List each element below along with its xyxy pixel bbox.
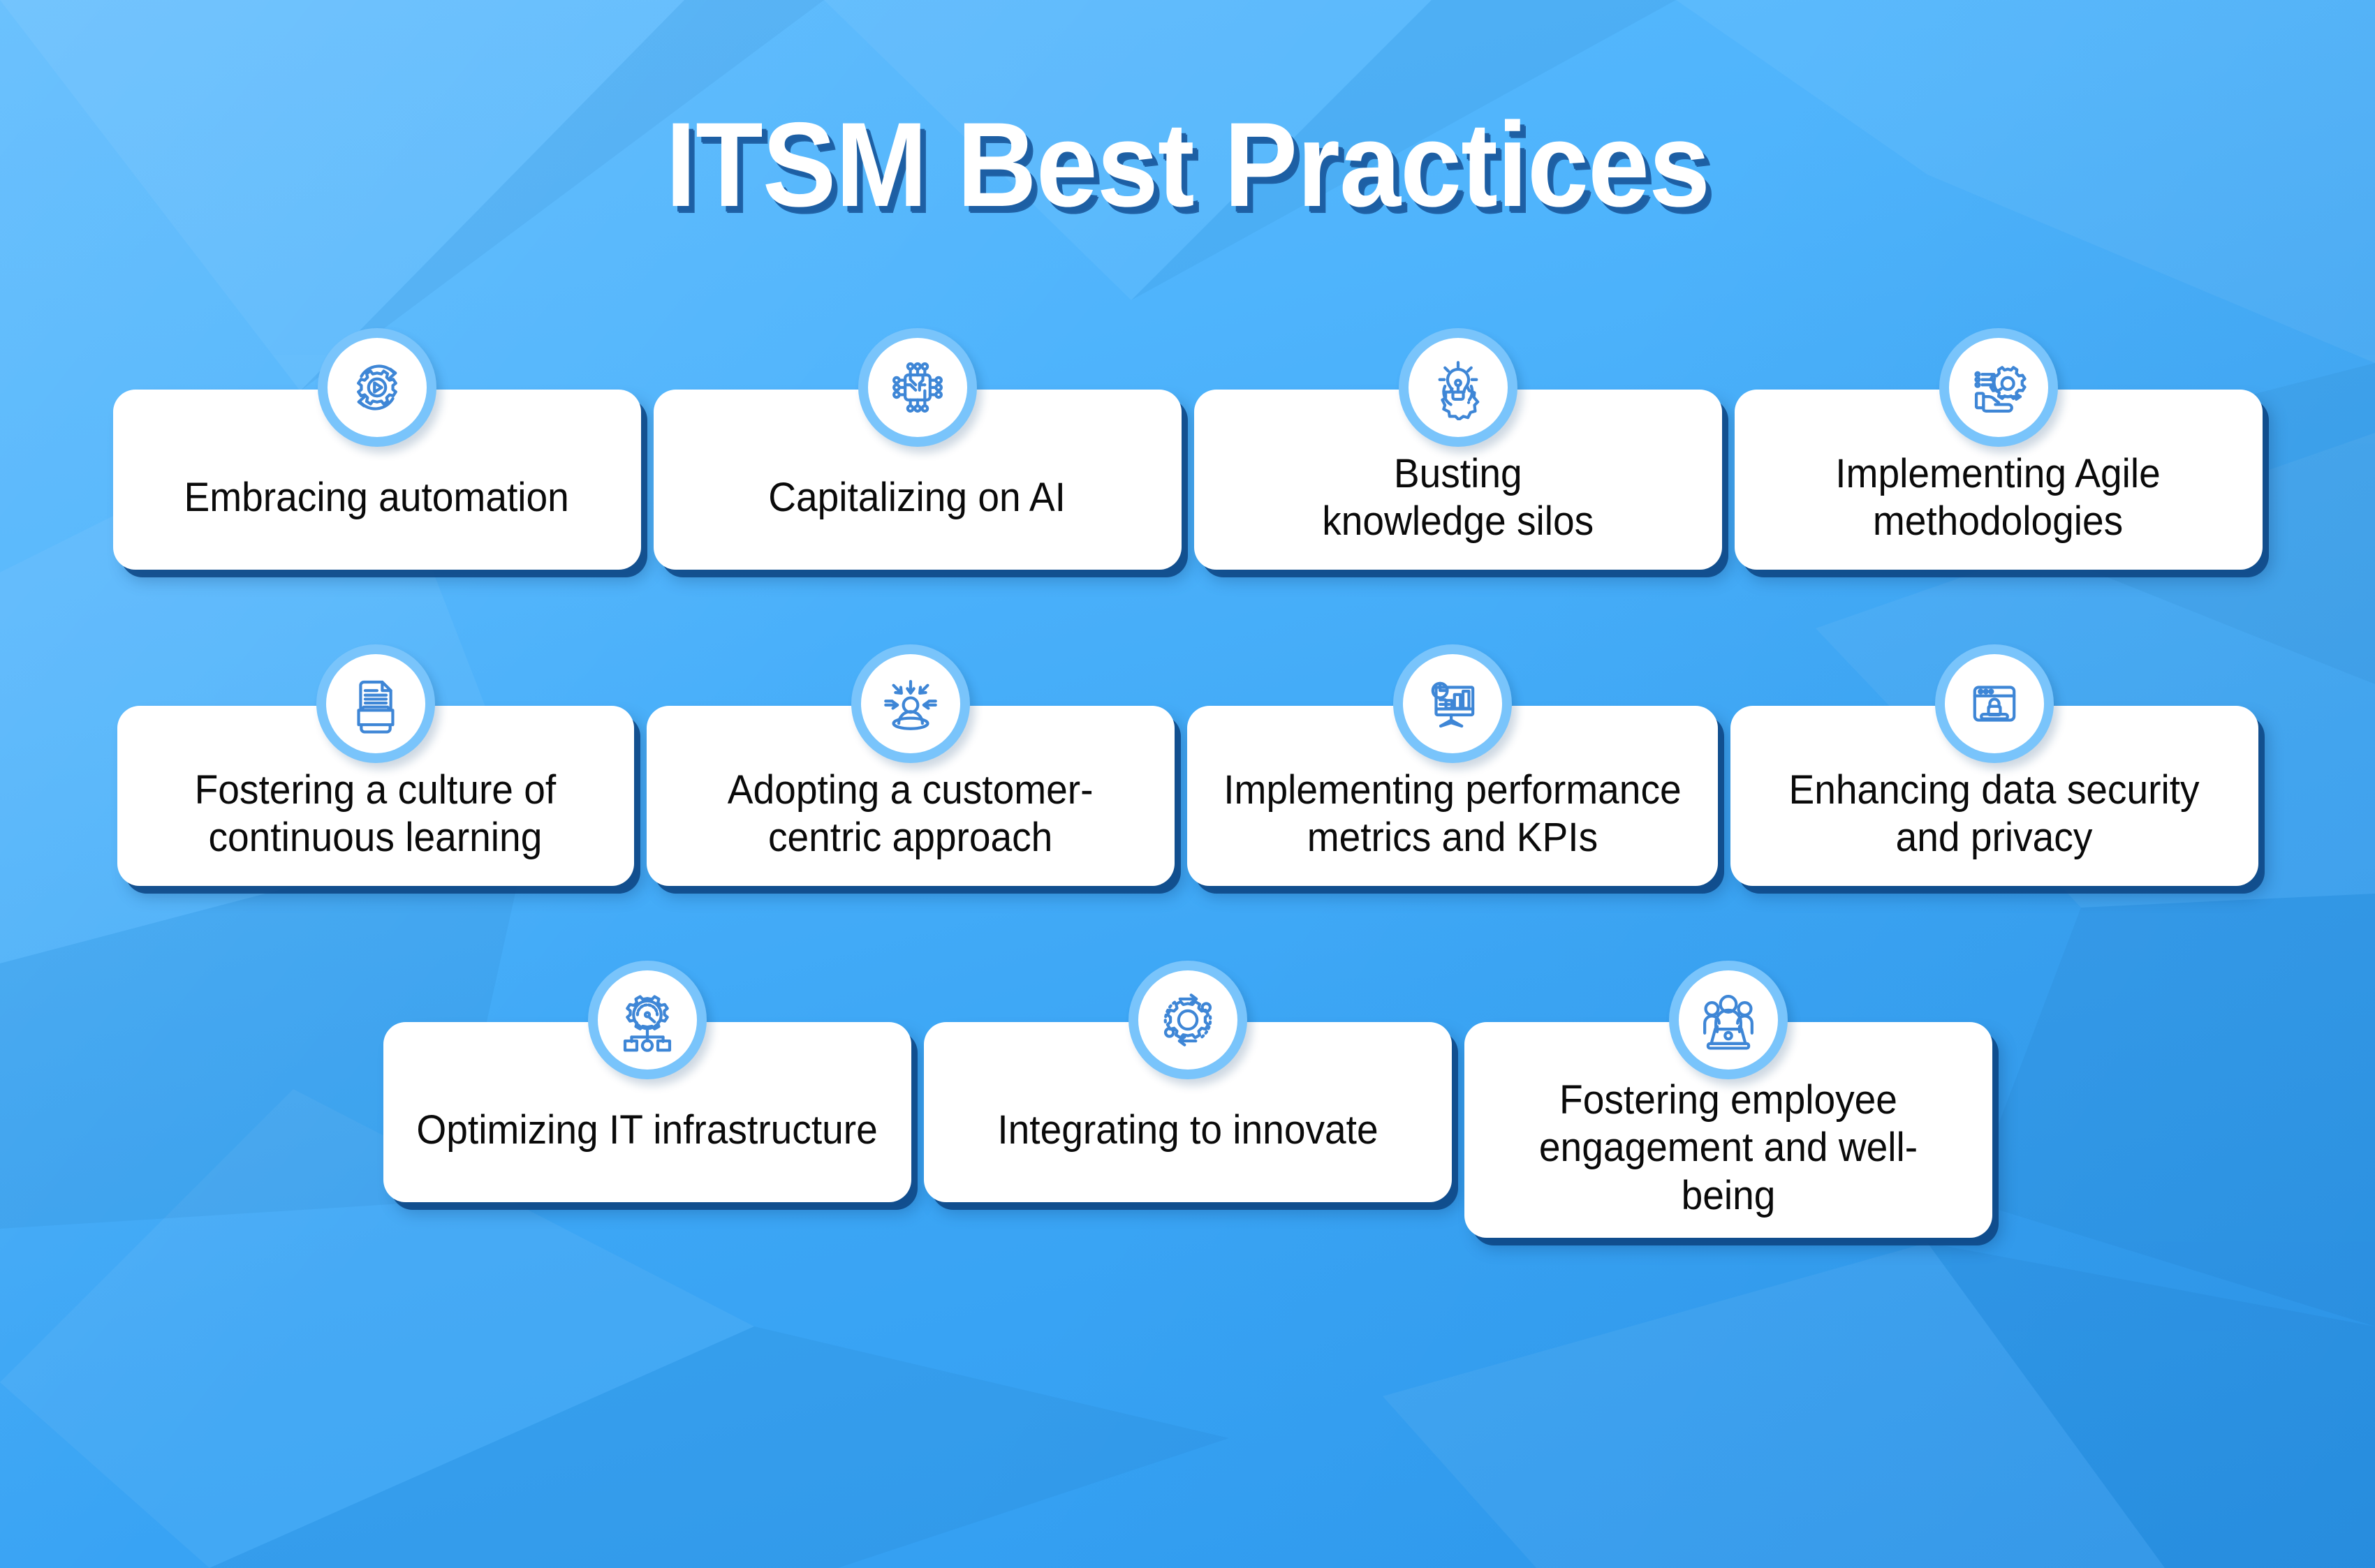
card-label: Implementing Agile methodologies xyxy=(1836,450,2161,546)
card-label: Fostering a culture of continuous learni… xyxy=(195,767,557,862)
practice-card-data-security[interactable]: Enhancing data security and privacy xyxy=(1730,644,2258,886)
gear-play-cycle-icon xyxy=(318,328,436,447)
hand-gear-checklist-icon xyxy=(1939,328,2058,447)
practice-card-embracing-automation[interactable]: Embracing automation xyxy=(113,328,641,570)
practices-grid: Embracing automation xyxy=(0,328,2375,1238)
gear-gauge-hierarchy-icon xyxy=(588,961,707,1079)
card-label: Enhancing data security and privacy xyxy=(1788,767,2199,862)
practice-card-continuous-learning[interactable]: Fostering a culture of continuous learni… xyxy=(117,644,634,886)
practice-card-employee-engagement[interactable]: Fostering employee engagement and well-b… xyxy=(1464,961,1992,1238)
practice-card-implementing-agile[interactable]: Implementing Agile methodologies xyxy=(1735,328,2263,570)
microchip-cpu-icon xyxy=(858,328,977,447)
document-scanner-icon xyxy=(316,644,435,763)
card-label: Busting knowledge silos xyxy=(1322,450,1594,546)
team-laptop-icon xyxy=(1669,961,1788,1079)
card-label: Optimizing IT infrastructure xyxy=(416,1107,877,1154)
practices-row-1: Embracing automation xyxy=(0,328,2375,570)
practice-card-capitalizing-on-ai[interactable]: Capitalizing on AI xyxy=(654,328,1182,570)
practice-card-integrating-to-innovate[interactable]: Integrating to innovate xyxy=(924,961,1452,1202)
page-title-wrap: ITSM Best Practices xyxy=(0,105,2375,225)
person-converging-arrows-icon xyxy=(851,644,970,763)
page-title: ITSM Best Practices xyxy=(666,105,1709,225)
monitor-analytics-chart-icon xyxy=(1393,644,1512,763)
browser-padlock-icon xyxy=(1935,644,2054,763)
card-label: Fostering employee engagement and well-b… xyxy=(1494,1077,1962,1220)
card-label: Implementing performance metrics and KPI… xyxy=(1223,767,1681,862)
practice-card-performance-metrics[interactable]: Implementing performance metrics and KPI… xyxy=(1187,644,1718,886)
card-label: Embracing automation xyxy=(184,474,569,522)
practices-row-2: Fostering a culture of continuous learni… xyxy=(0,644,2375,886)
practices-row-3: Optimizing IT infrastructure xyxy=(0,961,2375,1238)
infographic-canvas: ITSM Best Practices E xyxy=(0,0,2375,1568)
card-label: Adopting a customer- centric approach xyxy=(728,767,1094,862)
practice-card-customer-centric[interactable]: Adopting a customer- centric approach xyxy=(647,644,1175,886)
gear-dotted-orbit-icon xyxy=(1128,961,1247,1079)
card-label: Capitalizing on AI xyxy=(769,474,1066,522)
lightbulb-gear-icon xyxy=(1399,328,1517,447)
practice-card-optimizing-it-infrastructure[interactable]: Optimizing IT infrastructure xyxy=(383,961,911,1202)
card-label: Integrating to innovate xyxy=(997,1107,1378,1154)
practice-card-busting-knowledge-silos[interactable]: Busting knowledge silos xyxy=(1194,328,1722,570)
